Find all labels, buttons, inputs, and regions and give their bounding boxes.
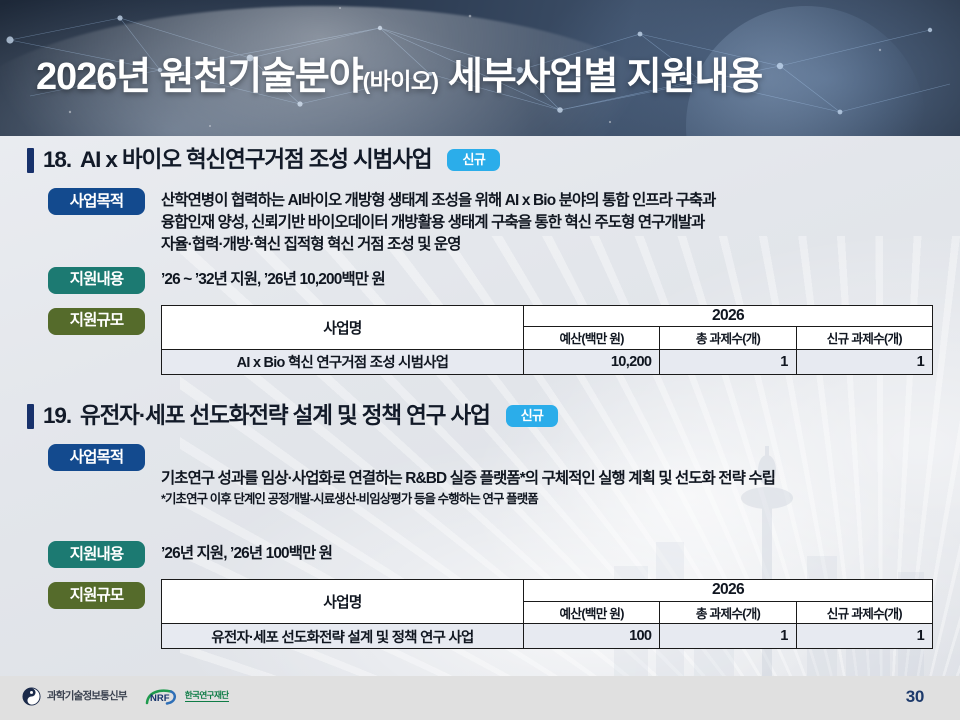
slide: 2026년 원천기술분야(바이오) 세부사업별 지원내용 xyxy=(0,0,960,720)
section-18-scale-label: 지원규모 xyxy=(48,308,145,335)
section-19-purpose-label: 사업목적 xyxy=(48,444,145,471)
taegeuk-icon xyxy=(22,687,41,706)
col-header-year: 2026 xyxy=(524,580,933,601)
section-19-support-row: 지원내용 ’26년 지원, ’26년 100백만 원 xyxy=(0,541,960,568)
section-18-purpose-label: 사업목적 xyxy=(48,188,145,215)
page-title-paren: (바이오) xyxy=(363,68,439,94)
nrf-mark-icon: NRF xyxy=(145,688,179,705)
section-19-title: 유전자·세포 선도화전략 설계 및 정책 연구 사업 xyxy=(80,405,490,428)
cell-program-name: AI x Bio 혁신 연구거점 조성 시범사업 xyxy=(162,349,524,374)
table-header-row-top: 사업명 2026 xyxy=(162,580,933,601)
section-accent-bar xyxy=(27,404,34,429)
col-header-total-tasks: 총 과제수(개) xyxy=(660,601,796,624)
col-header-year: 2026 xyxy=(524,305,933,326)
section-18-purpose-text: 산학연병이 협력하는 AI바이오 개방형 생태계 조성을 위해 AI x Bio… xyxy=(161,188,715,256)
section-19-purpose-note: *기초연구 이후 단계인 공정개발-시료생산-비임상평가 등을 수행하는 연구 … xyxy=(161,490,775,509)
section-18-support-row: 지원내용 ’26 ~ ’32년 지원, ’26년 10,200백만 원 xyxy=(0,267,960,294)
col-header-total-tasks: 총 과제수(개) xyxy=(660,327,796,350)
section-19-new-badge: 신규 xyxy=(506,405,559,427)
section-19: 19. 유전자·세포 선도화전략 설계 및 정책 연구 사업 신규 사업목적 기… xyxy=(0,400,960,649)
section-19-support-text: ’26년 지원, ’26년 100백만 원 xyxy=(161,541,332,565)
section-19-budget-table: 사업명 2026 예산(백만 원) 총 과제수(개) 신규 과제수(개) 유전자… xyxy=(161,579,933,649)
section-19-number: 19. xyxy=(43,405,71,428)
section-18-number: 18. xyxy=(43,149,71,172)
section-18-support-label: 지원내용 xyxy=(48,267,145,294)
section-18-purpose-row: 사업목적 산학연병이 협력하는 AI바이오 개방형 생태계 조성을 위해 AI … xyxy=(0,188,960,256)
section-19-scale-label: 지원규모 xyxy=(48,582,145,609)
table-header-row-top: 사업명 2026 xyxy=(162,305,933,326)
cell-total-tasks: 1 xyxy=(660,624,796,649)
ministry-name: 과학기술정보통신부 xyxy=(47,691,127,702)
section-18-budget-table: 사업명 2026 예산(백만 원) 총 과제수(개) 신규 과제수(개) AI … xyxy=(161,305,933,375)
col-header-budget: 예산(백만 원) xyxy=(524,601,660,624)
section-18-title: AI x 바이오 혁신연구거점 조성 시범사업 xyxy=(80,149,431,172)
col-header-budget: 예산(백만 원) xyxy=(524,327,660,350)
nrf-logo: NRF 한국연구재단 xyxy=(145,688,229,705)
col-header-new-tasks: 신규 과제수(개) xyxy=(796,327,932,350)
section-18-support-text: ’26 ~ ’32년 지원, ’26년 10,200백만 원 xyxy=(161,267,385,291)
section-18-heading: 18. AI x 바이오 혁신연구거점 조성 시범사업 신규 xyxy=(0,144,960,176)
section-18-new-badge: 신규 xyxy=(447,149,500,171)
cell-budget: 100 xyxy=(524,624,660,649)
page-title-main: 2026년 원천기술분야 xyxy=(36,56,363,98)
table-row: 유전자·세포 선도화전략 설계 및 정책 연구 사업 100 1 1 xyxy=(162,624,933,649)
cell-program-name: 유전자·세포 선도화전략 설계 및 정책 연구 사업 xyxy=(162,624,524,649)
slide-header-banner: 2026년 원천기술분야(바이오) 세부사업별 지원내용 xyxy=(0,0,960,136)
cell-new-tasks: 1 xyxy=(796,624,932,649)
cell-total-tasks: 1 xyxy=(660,349,796,374)
section-19-purpose-text: 기초연구 성과를 임상·사업화로 연결하는 R&BD 실증 플랫폼*의 구체적인… xyxy=(161,444,775,530)
section-18-table-wrap: 사업명 2026 예산(백만 원) 총 과제수(개) 신규 과제수(개) AI … xyxy=(161,305,933,375)
section-19-table-wrap: 사업명 2026 예산(백만 원) 총 과제수(개) 신규 과제수(개) 유전자… xyxy=(161,579,933,649)
ministry-logo: 과학기술정보통신부 xyxy=(22,687,127,706)
section-19-heading: 19. 유전자·세포 선도화전략 설계 및 정책 연구 사업 신규 xyxy=(0,400,960,432)
table-row: AI x Bio 혁신 연구거점 조성 시범사업 10,200 1 1 xyxy=(162,349,933,374)
page-title: 2026년 원천기술분야(바이오) 세부사업별 지원내용 xyxy=(36,58,762,96)
section-19-purpose-main: 기초연구 성과를 임상·사업화로 연결하는 R&BD 실증 플랫폼*의 구체적인… xyxy=(161,470,775,487)
cell-new-tasks: 1 xyxy=(796,349,932,374)
section-accent-bar xyxy=(27,148,34,173)
section-18: 18. AI x 바이오 혁신연구거점 조성 시범사업 신규 사업목적 산학연병… xyxy=(0,144,960,375)
nrf-name: 한국연구재단 xyxy=(185,691,229,702)
section-19-scale-row: 지원규모 사업명 2026 예산(백만 원) 총 과제수(개) 신규 과제수(개… xyxy=(0,582,960,649)
page-number: 30 xyxy=(906,688,924,705)
page-title-tail: 세부사업별 지원내용 xyxy=(438,56,762,98)
cell-budget: 10,200 xyxy=(524,349,660,374)
slide-footer: 과학기술정보통신부 NRF 한국연구재단 30 xyxy=(0,676,960,720)
footer-logos: 과학기술정보통신부 NRF 한국연구재단 xyxy=(22,687,229,706)
section-18-scale-row: 지원규모 사업명 2026 예산(백만 원) 총 과제수(개) 신규 과제수(개… xyxy=(0,308,960,375)
col-header-name: 사업명 xyxy=(162,580,524,624)
svg-text:NRF: NRF xyxy=(150,693,170,704)
col-header-new-tasks: 신규 과제수(개) xyxy=(796,601,932,624)
section-19-support-label: 지원내용 xyxy=(48,541,145,568)
col-header-name: 사업명 xyxy=(162,305,524,349)
section-19-purpose-row: 사업목적 기초연구 성과를 임상·사업화로 연결하는 R&BD 실증 플랫폼*의… xyxy=(0,444,960,530)
